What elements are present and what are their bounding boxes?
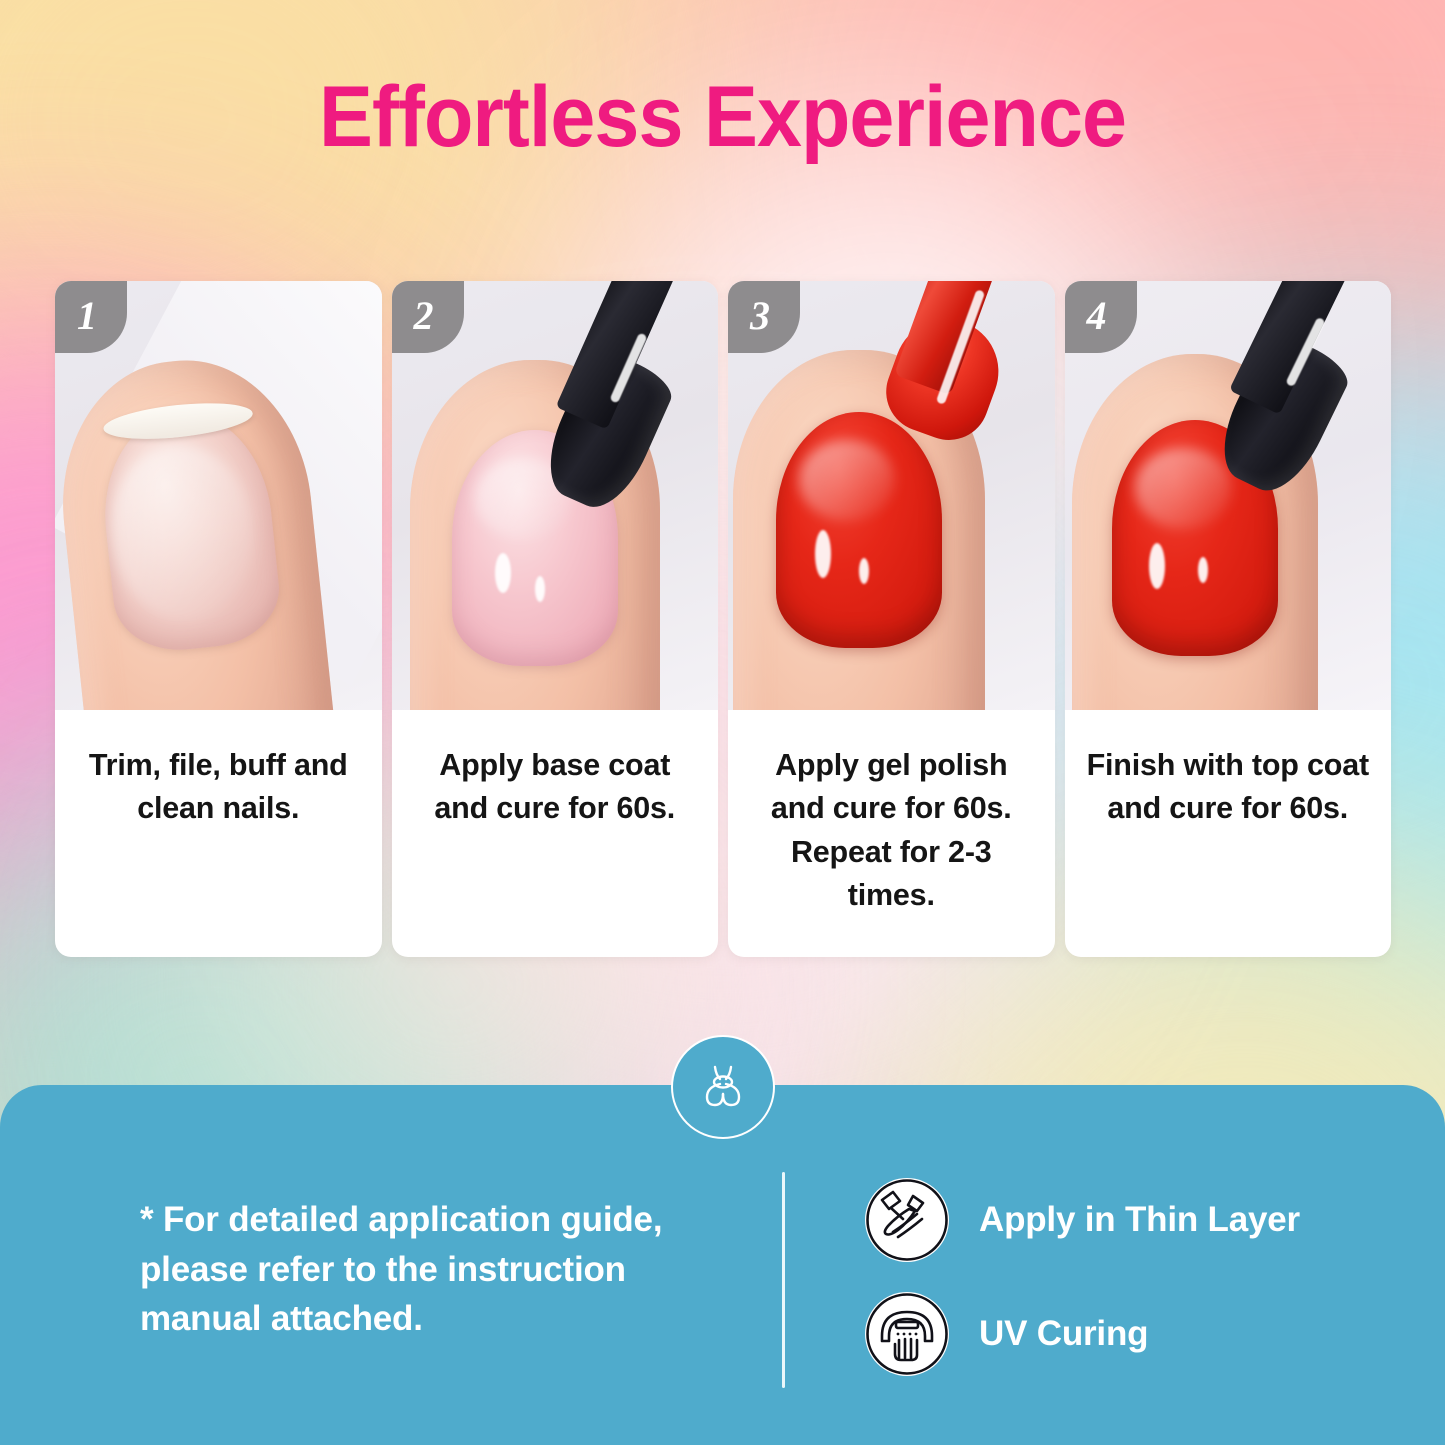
thin-layer-brush-icon — [865, 1178, 949, 1262]
uv-lamp-curing-icon — [865, 1292, 949, 1376]
bee-logo-circle — [671, 1035, 775, 1139]
step-caption: Apply base coat and cure for 60s. — [392, 710, 719, 957]
step-3-photo: 3 — [728, 281, 1055, 710]
step-card-3: 3 Apply gel polish and cure for 60s. Rep… — [728, 281, 1055, 957]
feature-label: Apply in Thin Layer — [979, 1200, 1300, 1240]
step-caption: Trim, file, buff and clean nails. — [55, 710, 382, 957]
steps-row: 1 Trim, file, buff and clean nails. — [55, 281, 1391, 957]
brand-logo — [671, 1035, 775, 1139]
feature-uv-curing: UV Curing — [865, 1292, 1300, 1376]
step-card-2: 2 Apply base coat and cure for 60s. — [392, 281, 719, 957]
feature-thin-layer: Apply in Thin Layer — [865, 1178, 1300, 1262]
step-2-photo: 2 — [392, 281, 719, 710]
footer-features: Apply in Thin Layer — [865, 1178, 1300, 1376]
feature-label: UV Curing — [979, 1314, 1148, 1354]
step-card-4: 4 Finish with top coat and cure for 60s. — [1065, 281, 1392, 957]
step-caption: Finish with top coat and cure for 60s. — [1065, 710, 1392, 957]
footer-divider — [782, 1172, 785, 1388]
step-caption: Apply gel polish and cure for 60s. Repea… — [728, 710, 1055, 957]
step-4-photo: 4 — [1065, 281, 1392, 710]
page-title: Effortless Experience — [43, 74, 1401, 160]
step-1-photo: 1 — [55, 281, 382, 710]
bee-logo-icon — [694, 1058, 752, 1116]
step-card-1: 1 Trim, file, buff and clean nails. — [55, 281, 382, 957]
footer-note: * For detailed application guide, please… — [140, 1195, 740, 1344]
